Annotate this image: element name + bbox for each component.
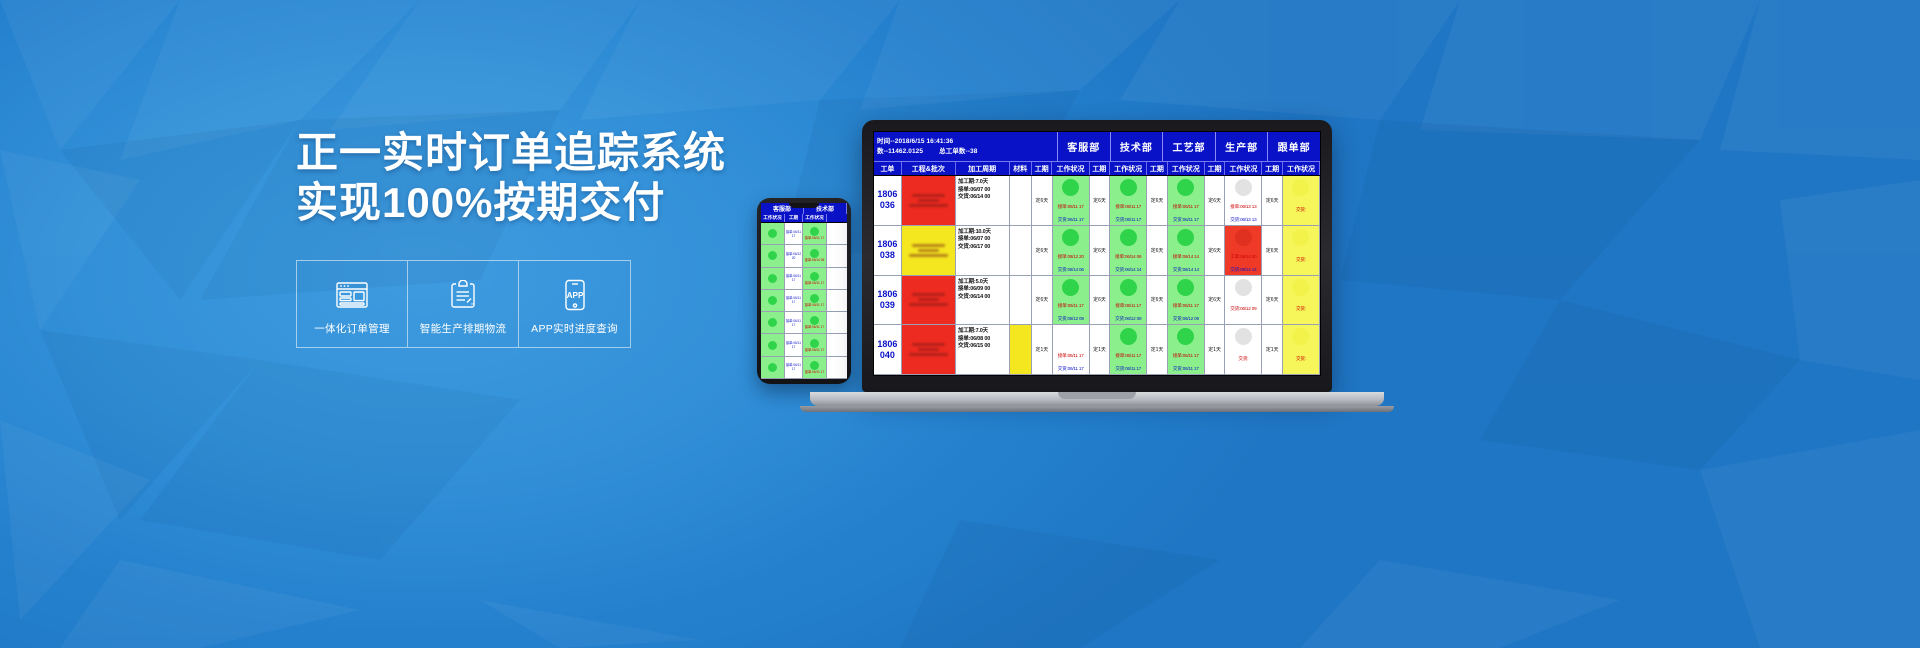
status-note-received: 接单:06/11 17 [1054, 303, 1088, 309]
status-note-received: 接单:06/13 13 [1226, 204, 1260, 210]
cell-project-batch [902, 176, 956, 225]
status-indicator-dot [810, 272, 819, 281]
status-note-delivery: 交货:06/11 17 [1169, 217, 1203, 223]
status-note-received: 接单:06/12 20 [1054, 254, 1088, 260]
cell-status-1[interactable]: 接单:06/12 20交货:06/14 06 [1053, 226, 1090, 275]
cell-term-1: 定6天 [1032, 226, 1052, 275]
status-note-received: 交货:06/12 09 [1226, 306, 1260, 312]
phone-cell-status-2[interactable]: 接单:06/11 17 [803, 334, 827, 355]
phone-cell-term: 接单:06/11 17 [785, 357, 803, 378]
order-prefix: 1806 [877, 189, 897, 200]
cell-term-5: 定6天 [1262, 276, 1282, 325]
redacted-text [918, 298, 939, 301]
table-row[interactable]: 1806040加工期:7.0天接单:06/08 00交货:06/15 00定1天… [874, 325, 1320, 375]
table-row[interactable]: 1806039加工期:5.0天接单:06/09 00交货:06/14 00定6天… [874, 276, 1320, 326]
status-indicator-dot [1120, 179, 1137, 196]
redacted-text [909, 254, 948, 257]
dept-header-production: 生产部 [1216, 132, 1269, 161]
cell-term-5: 定6天 [1262, 176, 1282, 225]
phone-table-row[interactable]: 接单:06/11 17接单:06/11 17 [761, 357, 847, 379]
phone-status-note: 接单:06/11 17 [805, 348, 824, 352]
phone-cell-status-2[interactable]: 接单:06/11 17 [803, 290, 827, 311]
phone-cell-status-1[interactable] [761, 312, 785, 333]
status-note-received: 交货: [1284, 257, 1318, 263]
status-indicator-dot [810, 316, 819, 325]
status-indicator-dot [1177, 179, 1194, 196]
cell-material [1010, 325, 1032, 374]
redacted-text [918, 199, 939, 202]
cell-term-2: 定6天 [1090, 226, 1110, 275]
phone-status-note: 接单:06/11 17 [805, 370, 824, 374]
status-note-received: 交货: [1284, 356, 1318, 362]
cell-status-1[interactable]: 接单:06/11 17交货:06/12 09 [1053, 276, 1090, 325]
phone-term-note: 接单:06/11 17 [785, 230, 802, 238]
cell-status-3[interactable]: 接单:06/11 17交货:06/11 17 [1168, 176, 1205, 225]
cell-status-2[interactable]: 接单:06/11 17交货:06/11 17 [1110, 325, 1147, 374]
status-note-delivery: 交货:06/11 17 [1111, 217, 1145, 223]
phone-status-note: 接单:06/14 06 [805, 258, 825, 262]
page-title-line2: 实现100%按期交付 [296, 178, 716, 228]
phone-cell-status-1[interactable] [761, 245, 785, 266]
status-note-received: 接单:06/11 17 [1111, 353, 1145, 359]
status-indicator-dot [768, 341, 777, 350]
cell-material [1010, 176, 1032, 225]
dashboard-amount: 数--11462.0125 [877, 147, 923, 157]
cycle-line-1: 加工期:7.0天 [958, 328, 1007, 336]
cycle-line-3: 交货:06/14 00 [958, 294, 1007, 302]
cell-status-1[interactable]: 接单:06/11 17交货:06/11 17 [1053, 176, 1090, 225]
phone-status-note: 接单:06/11 17 [805, 303, 824, 307]
cell-processing-cycle: 加工期:5.0天接单:06/09 00交货:06/14 00 [956, 276, 1010, 325]
col-status-3: 工作状况 [1168, 162, 1205, 175]
cell-status-3[interactable]: 接单:06/11 17交货:06/11 17 [1168, 325, 1205, 374]
status-indicator-dot [1062, 179, 1079, 196]
phone-table-row[interactable]: 接单:06/12 20接单:06/14 06 [761, 245, 847, 267]
phone-column-header: 工作状况 工期 工作状况 [761, 214, 847, 223]
phone-screen[interactable]: 客服部 技术部 工作状况 工期 工作状况 接单:06/11 17接单:06/11… [761, 203, 847, 379]
table-row[interactable]: 1806036加工期:7.0天接单:06/07 00交货:06/14 00定6天… [874, 176, 1320, 226]
phone-status-note: 接单:06/11 17 [805, 325, 824, 329]
cell-status-1[interactable]: 接单:06/11 17交货:06/11 17 [1053, 325, 1090, 374]
status-note-delivery: 交货:06/13 13 [1226, 217, 1260, 223]
cell-status-2[interactable]: 接单:06/11 17交货:06/11 17 [1110, 176, 1147, 225]
phone-mockup: 客服部 技术部 工作状况 工期 工作状况 接单:06/11 17接单:06/11… [757, 198, 851, 384]
app-badge-text: APP [566, 291, 583, 300]
status-note-delivery: 交货:06/14 14 [1226, 267, 1260, 273]
cell-term-3: 定1天 [1147, 325, 1167, 374]
cell-status-2[interactable]: 接单:06/14 06交货:06/14 14 [1110, 226, 1147, 275]
banner-copy: 正一实时订单追踪系统 实现100%按期交付 [296, 128, 716, 228]
col-term-5: 工期 [1262, 162, 1282, 175]
status-note-delivery: 交货:06/12 09 [1111, 316, 1145, 322]
status-note-received: 接单:06/11 17 [1054, 353, 1088, 359]
phone-notch [789, 203, 819, 208]
cell-project-batch [902, 226, 956, 275]
status-indicator-dot [1062, 279, 1079, 296]
redacted-text [909, 303, 948, 306]
laptop-screen[interactable]: 时间--2018/6/15 16:41:36 数--11462.0125 总工单… [873, 131, 1321, 376]
redacted-text [909, 353, 948, 356]
phone-table-row[interactable]: 接单:06/11 17接单:06/11 17 [761, 334, 847, 356]
page-title-line1: 正一实时订单追踪系统 [296, 128, 716, 178]
status-indicator-dot [1292, 328, 1309, 345]
phone-cell-term: 接单:06/11 17 [785, 334, 803, 355]
phone-cell-term: 接单:06/11 17 [785, 312, 803, 333]
status-indicator-dot [768, 363, 777, 372]
cell-order-number: 1806038 [874, 226, 902, 275]
order-prefix: 1806 [877, 239, 897, 250]
cell-term-3: 定6天 [1147, 276, 1167, 325]
phone-cell-status-2[interactable]: 接单:06/11 17 [803, 357, 827, 378]
cell-status-3[interactable]: 接单:06/14 14交货:06/14 14 [1168, 226, 1205, 275]
phone-cell-term: 接单:06/12 20 [785, 245, 803, 266]
phone-term-note: 接单:06/11 17 [785, 319, 802, 327]
status-indicator-dot [1235, 229, 1252, 246]
dashboard-info-block: 时间--2018/6/15 16:41:36 数--11462.0125 总工单… [874, 132, 1058, 161]
status-indicator-dot [1062, 229, 1079, 246]
phone-term-note: 接单:06/12 20 [785, 252, 802, 260]
order-suffix: 038 [880, 250, 895, 261]
phone-status-note: 接单:06/11 17 [805, 281, 824, 285]
status-indicator-dot [1177, 279, 1194, 296]
cycle-line-3: 交货:06/14 00 [958, 194, 1007, 202]
dept-header-customer-service: 客服部 [1058, 132, 1111, 161]
col-status-4: 工作状况 [1225, 162, 1262, 175]
cell-term-4: 定6天 [1205, 176, 1225, 225]
status-note-received: 接单:06/11 17 [1111, 204, 1145, 210]
phone-term-note: 接单:06/11 17 [785, 274, 802, 282]
col-term-4: 工期 [1205, 162, 1225, 175]
cell-term-2: 定6天 [1090, 176, 1110, 225]
cell-material [1010, 276, 1032, 325]
status-indicator-dot [768, 274, 777, 283]
status-note-received: 交货: [1284, 306, 1318, 312]
status-indicator-dot [1292, 179, 1309, 196]
redacted-text [918, 348, 939, 351]
dashboard-total-row: 数--11462.0125 总工单数--38 [877, 147, 1054, 157]
status-note-delivery: 交货:06/14 14 [1111, 267, 1145, 273]
order-prefix: 1806 [877, 339, 897, 350]
feature-item-production-schedule[interactable]: 智能生产排期物流 [408, 261, 519, 347]
col-cycle: 加工周期 [956, 162, 1010, 175]
cell-term-1: 定1天 [1032, 325, 1052, 374]
cell-order-number: 1806040 [874, 325, 902, 374]
status-note-delivery: 交货:06/12 09 [1169, 316, 1203, 322]
cycle-line-1: 加工期:7.0天 [958, 179, 1007, 187]
cell-term-3: 定6天 [1147, 226, 1167, 275]
clipboard-schedule-icon [448, 276, 478, 314]
status-indicator-dot [1120, 279, 1137, 296]
phone-table-row[interactable]: 接单:06/11 17接单:06/11 17 [761, 268, 847, 290]
cell-term-5: 定6天 [1262, 226, 1282, 275]
feature-list: 一体化订单管理 智能生产排期物流 APP AP [296, 260, 631, 348]
dashboard-table-body: 1806036加工期:7.0天接单:06/07 00交货:06/14 00定6天… [874, 176, 1320, 375]
cell-term-2: 定1天 [1090, 325, 1110, 374]
status-note-received: 接单:06/14 14 [1169, 254, 1203, 260]
status-note-delivery: 交货:06/14 06 [1054, 267, 1088, 273]
redacted-text [912, 194, 945, 197]
col-term-1: 工期 [1032, 162, 1052, 175]
cell-status-5[interactable]: 交货: [1283, 176, 1320, 225]
cell-status-2[interactable]: 接单:06/11 17交货:06/12 09 [1110, 276, 1147, 325]
status-note-received: 接单:06/11 17 [1169, 303, 1203, 309]
dept-header-process: 工艺部 [1163, 132, 1216, 161]
laptop-foot [800, 406, 1394, 412]
phone-cell-status-1[interactable] [761, 357, 785, 378]
status-indicator-dot [1235, 328, 1252, 345]
phone-cell-term: 接单:06/11 17 [785, 268, 803, 289]
mobile-app-icon: APP [563, 276, 587, 314]
cell-status-4[interactable]: 交货: [1225, 325, 1262, 374]
cycle-line-2: 接单:06/07 00 [958, 187, 1007, 195]
status-indicator-dot [768, 251, 777, 260]
feature-label: 一体化订单管理 [314, 321, 390, 336]
cell-term-5: 定1天 [1262, 325, 1282, 374]
cell-term-1: 定6天 [1032, 176, 1052, 225]
cell-processing-cycle: 加工期:10.0天接单:06/07 00交货:06/17 00 [956, 226, 1010, 275]
table-row[interactable]: 1806038加工期:10.0天接单:06/07 00交货:06/17 00定6… [874, 226, 1320, 276]
phone-term-note: 接单:06/11 17 [785, 341, 802, 349]
cell-status-4[interactable]: 工单:06/14 00交货:06/14 14 [1225, 226, 1262, 275]
dept-header-technical: 技术部 [1111, 132, 1164, 161]
status-indicator-dot [810, 361, 819, 370]
cell-term-4: 定6天 [1205, 226, 1225, 275]
cycle-line-3: 交货:06/15 00 [958, 343, 1007, 351]
col-term-3: 工期 [1147, 162, 1167, 175]
phone-cell-status-1[interactable] [761, 268, 785, 289]
status-note-received: 工单:06/14 00 [1226, 254, 1260, 260]
cell-term-4: 定6天 [1205, 276, 1225, 325]
window-browser-icon [335, 276, 369, 314]
order-suffix: 036 [880, 200, 895, 211]
phone-col-term: 工期 [785, 214, 803, 222]
cycle-line-2: 接单:06/07 00 [958, 236, 1007, 244]
redacted-text [912, 244, 945, 247]
phone-cell-status-2[interactable]: 接单:06/11 17 [803, 223, 827, 244]
order-tracking-dashboard: 时间--2018/6/15 16:41:36 数--11462.0125 总工单… [874, 132, 1320, 375]
order-suffix: 039 [880, 300, 895, 311]
status-note-received: 接单:06/11 17 [1054, 204, 1088, 210]
cell-status-3[interactable]: 接单:06/11 17交货:06/12 09 [1168, 276, 1205, 325]
col-status-2: 工作状况 [1110, 162, 1147, 175]
order-prefix: 1806 [877, 289, 897, 300]
phone-shell: 客服部 技术部 工作状况 工期 工作状况 接单:06/11 17接单:06/11… [757, 198, 851, 384]
status-note-delivery: 交货:06/11 17 [1054, 217, 1088, 223]
cell-term-2: 定6天 [1090, 276, 1110, 325]
redacted-text [918, 249, 939, 252]
status-note-delivery: 交货:06/12 09 [1054, 316, 1088, 322]
cell-order-number: 1806039 [874, 276, 902, 325]
status-indicator-dot [768, 318, 777, 327]
feature-item-order-management[interactable]: 一体化订单管理 [297, 261, 408, 347]
status-indicator-dot [1177, 229, 1194, 246]
status-indicator-dot [810, 294, 819, 303]
status-indicator-dot [768, 296, 777, 305]
feature-label: 智能生产排期物流 [420, 321, 506, 336]
status-indicator-dot [1062, 328, 1079, 345]
order-suffix: 040 [880, 350, 895, 361]
feature-label: APP实时进度查询 [531, 321, 618, 336]
dashboard-header: 时间--2018/6/15 16:41:36 数--11462.0125 总工单… [874, 132, 1320, 162]
cycle-line-2: 接单:06/09 00 [958, 286, 1007, 294]
status-indicator-dot [1120, 328, 1137, 345]
redacted-text [912, 293, 945, 296]
status-note-received: 交货: [1284, 207, 1318, 213]
phone-table-body: 接单:06/11 17接单:06/11 17接单:06/12 20接单:06/1… [761, 223, 847, 379]
phone-cell-status-2[interactable]: 接单:06/11 17 [803, 268, 827, 289]
cell-processing-cycle: 加工期:7.0天接单:06/07 00交货:06/14 00 [956, 176, 1010, 225]
status-note-received: 接单:06/14 06 [1111, 254, 1145, 260]
phone-cell-status-1[interactable] [761, 290, 785, 311]
status-note-delivery: 交货:06/11 17 [1169, 366, 1203, 372]
cell-status-5[interactable]: 交货: [1283, 325, 1320, 374]
phone-term-note: 接单:06/11 17 [785, 363, 802, 371]
status-note-received: 接单:06/11 17 [1169, 204, 1203, 210]
cell-project-batch [902, 325, 956, 374]
col-material: 材料 [1010, 162, 1032, 175]
status-indicator-dot [810, 339, 819, 348]
status-indicator-dot [1120, 229, 1137, 246]
cell-term-1: 定6天 [1032, 276, 1052, 325]
phone-cell-status-2[interactable]: 接单:06/11 17 [803, 312, 827, 333]
phone-table-row[interactable]: 接单:06/11 17接单:06/11 17 [761, 223, 847, 245]
dashboard-time: 时间--2018/6/15 16:41:36 [877, 137, 953, 147]
col-project: 工程&批次 [902, 162, 956, 175]
phone-table-row[interactable]: 接单:06/11 17接单:06/11 17 [761, 312, 847, 334]
col-status-1: 工作状况 [1052, 162, 1089, 175]
phone-col-status-2: 工作状况 [803, 214, 827, 222]
laptop-trackpad-notch [1058, 392, 1136, 399]
dashboard-column-header: 工单工程&批次加工周期材料工期工作状况工期工作状况工期工作状况工期工作状况工期工… [874, 162, 1320, 176]
col-status-5: 工作状况 [1283, 162, 1320, 175]
cell-term-4: 定1天 [1205, 325, 1225, 374]
cell-processing-cycle: 加工期:7.0天接单:06/08 00交货:06/15 00 [956, 325, 1010, 374]
status-note-delivery: 交货:06/11 17 [1111, 366, 1145, 372]
phone-cell-status-2[interactable]: 接单:06/14 06 [803, 245, 827, 266]
phone-cell-status-1[interactable] [761, 223, 785, 244]
status-note-received: 交货: [1226, 356, 1260, 362]
col-term-2: 工期 [1090, 162, 1110, 175]
cycle-line-1: 加工期:5.0天 [958, 279, 1007, 287]
phone-status-note: 接单:06/11 17 [805, 236, 824, 240]
cell-status-5[interactable]: 交货: [1283, 276, 1320, 325]
phone-cell-term: 接单:06/11 17 [785, 223, 803, 244]
dashboard-time-row: 时间--2018/6/15 16:41:36 [877, 137, 1054, 147]
status-note-received: 接单:06/11 17 [1111, 303, 1145, 309]
cell-status-4[interactable]: 接单:06/13 13交货:06/13 13 [1225, 176, 1262, 225]
status-note-delivery: 交货:06/14 14 [1169, 267, 1203, 273]
phone-col-status-1: 工作状况 [761, 214, 785, 222]
feature-item-app-tracking[interactable]: APP APP实时进度查询 [519, 261, 630, 347]
cell-order-number: 1806036 [874, 176, 902, 225]
phone-cell-status-1[interactable] [761, 334, 785, 355]
redacted-text [912, 343, 945, 346]
status-note-delivery: 交货:06/11 17 [1054, 366, 1088, 372]
cell-term-3: 定6天 [1147, 176, 1167, 225]
phone-term-note: 接单:06/11 17 [785, 296, 802, 304]
dashboard-total-orders: 总工单数--38 [939, 147, 977, 157]
laptop-lid: 时间--2018/6/15 16:41:36 数--11462.0125 总工单… [862, 120, 1332, 392]
dept-header-merchandising: 跟单部 [1268, 132, 1320, 161]
status-indicator-dot [1292, 279, 1309, 296]
phone-cell-term: 接单:06/11 17 [785, 290, 803, 311]
cell-status-4[interactable]: 交货:06/12 09 [1225, 276, 1262, 325]
redacted-text [909, 204, 948, 207]
phone-table-row[interactable]: 接单:06/11 17接单:06/11 17 [761, 290, 847, 312]
status-indicator-dot [1177, 328, 1194, 345]
status-indicator-dot [768, 229, 777, 238]
cell-material [1010, 226, 1032, 275]
cell-project-batch [902, 276, 956, 325]
cell-status-5[interactable]: 交货: [1283, 226, 1320, 275]
col-order: 工单 [874, 162, 902, 175]
status-indicator-dot [810, 227, 819, 236]
cycle-line-3: 交货:06/17 00 [958, 244, 1007, 252]
status-indicator-dot [1235, 179, 1252, 196]
status-indicator-dot [1292, 229, 1309, 246]
laptop-mockup: 时间--2018/6/15 16:41:36 数--11462.0125 总工单… [862, 120, 1332, 420]
status-note-received: 接单:06/11 17 [1169, 353, 1203, 359]
status-indicator-dot [1235, 279, 1252, 296]
